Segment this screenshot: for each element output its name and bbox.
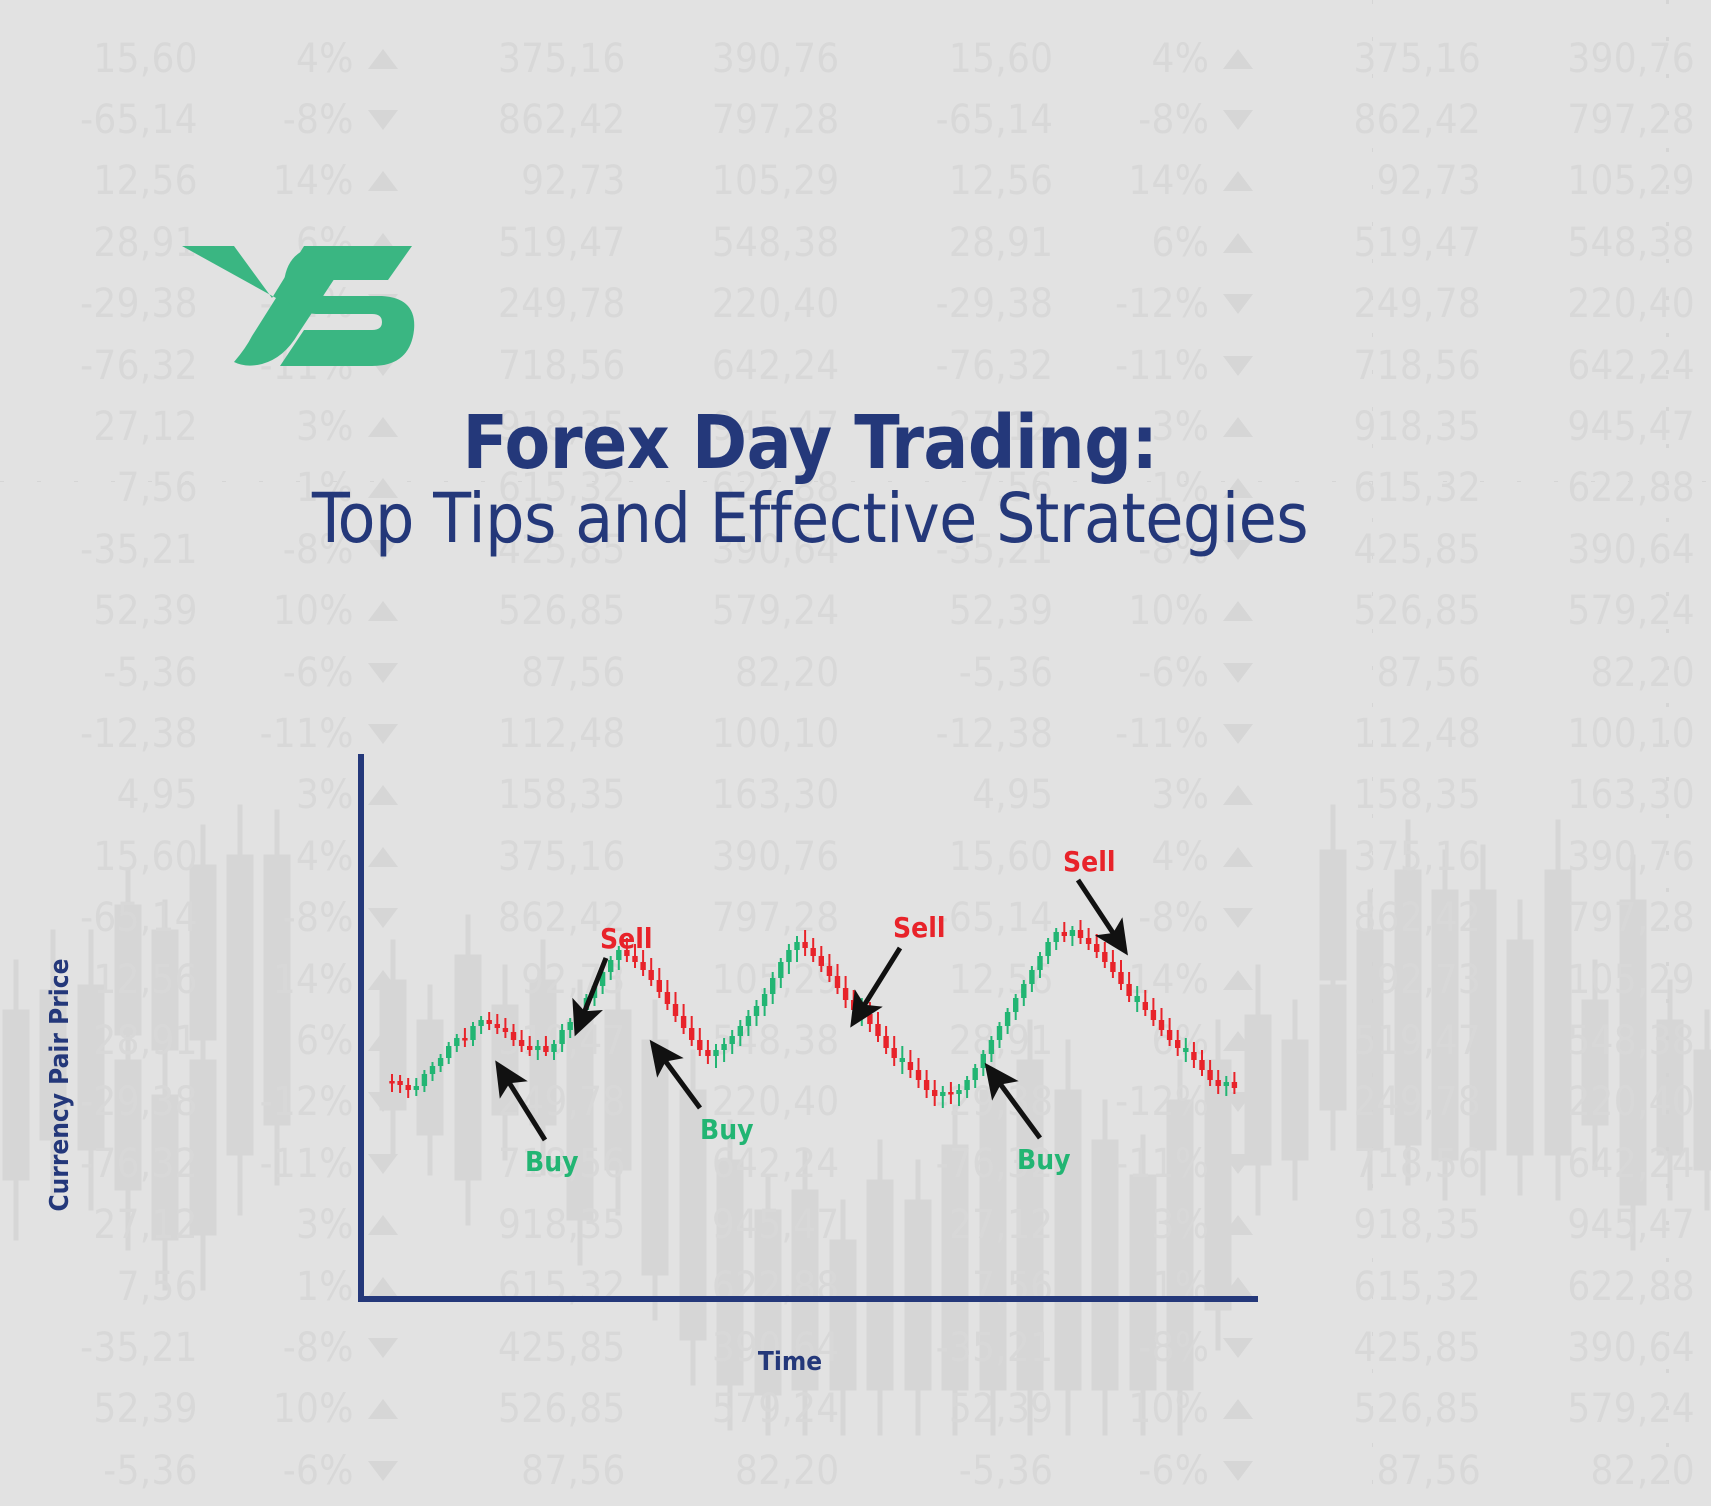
sell-signal-label: Sell (600, 922, 653, 955)
ticker-percent: 10% (1069, 581, 1283, 642)
candle-body-up (981, 1054, 986, 1068)
candle-body-down (632, 956, 637, 962)
candle-body-up (1135, 996, 1140, 1002)
candle-body-down (519, 1040, 524, 1046)
candle-body-up (1070, 930, 1075, 936)
candle-body-down (867, 1014, 872, 1024)
ticker-value: 7,56 (0, 458, 214, 519)
candle-body-down (883, 1036, 888, 1048)
ticker-num-1: 519,47 (428, 212, 642, 273)
candle-body-down (1232, 1082, 1237, 1088)
ticker-num-2: 642,24 (642, 335, 856, 396)
candle-body-up (478, 1020, 483, 1026)
ticker-num-2: 548,38 (1497, 212, 1711, 273)
ticker-value: 15,60 (0, 28, 214, 89)
arrow-down-icon (1223, 294, 1253, 314)
ticker-percent: -8% (1069, 89, 1283, 150)
ticker-num-2: 390,64 (1497, 519, 1711, 580)
candle-body-down (1151, 1010, 1156, 1020)
arrow-down-icon (1223, 663, 1253, 683)
candle-body-down (892, 1048, 897, 1058)
candle-body-down (487, 1020, 492, 1024)
ticker-percent: 14% (1069, 151, 1283, 212)
ticker-num-1: 92,73 (1283, 151, 1497, 212)
arrow-up-icon (1223, 171, 1253, 191)
candle-body-down (1159, 1020, 1164, 1030)
ticker-percent: -6% (1069, 642, 1283, 703)
candle-body-down (689, 1028, 694, 1040)
candle-body-down (397, 1081, 402, 1085)
sell-signal-label: Sell (1063, 845, 1116, 878)
chart-axes (358, 754, 1258, 1302)
candle-body-up (1224, 1082, 1229, 1086)
candle-body-up (1054, 932, 1059, 942)
ticker-value: -5,36 (856, 642, 1070, 703)
candle-body-down (665, 992, 670, 1004)
candle-body-down (1207, 1070, 1212, 1080)
arrow-up-icon (368, 601, 398, 621)
candle-body-down (681, 1016, 686, 1028)
ticker-num-2: 105,29 (642, 151, 856, 212)
candle-body-up (1013, 998, 1018, 1012)
candle-body-down (851, 1000, 856, 1010)
ticker-value: 27,12 (0, 396, 214, 457)
buy-signal-label: Buy (1017, 1143, 1071, 1176)
ticker-num-1: 526,85 (428, 581, 642, 642)
candle-body-up (762, 994, 767, 1006)
ticker-num-1: 526,85 (1283, 581, 1497, 642)
title-line-1: Forex Day Trading: (240, 404, 1380, 482)
ticker-num-1: 92,73 (428, 151, 642, 212)
candle-body-down (835, 976, 840, 988)
candle-body-up (551, 1044, 556, 1052)
arrow-up-icon (368, 49, 398, 69)
candle-body-up (900, 1058, 905, 1062)
candle-body-up (608, 960, 613, 972)
candle-body-up (1045, 942, 1050, 956)
arrow-down-icon (1223, 110, 1253, 130)
ticker-num-1: 249,78 (428, 274, 642, 335)
ticker-num-1: 87,56 (1283, 642, 1497, 703)
candle-body-up (1029, 970, 1034, 984)
ticker-num-1: 718,56 (428, 335, 642, 396)
ticker-num-1: 718,56 (1283, 335, 1497, 396)
x-axis-label: Time (560, 1347, 1020, 1377)
candle-body-up (430, 1066, 435, 1074)
ticker-value: 15,60 (856, 28, 1070, 89)
candle-body-up (438, 1058, 443, 1066)
ticker-num-2: 82,20 (642, 642, 856, 703)
candle-wick (464, 1028, 466, 1047)
candle-body-up (1005, 1012, 1010, 1026)
ticker-num-1: 375,16 (1283, 28, 1497, 89)
ticker-value: -65,14 (856, 89, 1070, 150)
candle-body-up (746, 1016, 751, 1026)
ticker-num-2: 220,40 (1497, 274, 1711, 335)
ticker-value: -76,32 (856, 335, 1070, 396)
candle-body-down (1078, 930, 1083, 938)
candle-body-down (1175, 1040, 1180, 1048)
candle-wick (942, 1086, 944, 1108)
arrow-up-icon (368, 171, 398, 191)
candle-body-down (843, 988, 848, 1000)
candle-body-down (640, 962, 645, 970)
candle-body-down (1216, 1080, 1221, 1086)
candle-body-up (778, 962, 783, 978)
ticker-value: 52,39 (0, 581, 214, 642)
poster-canvas: 15,604%375,16390,7615,604%375,16390,76-6… (0, 0, 1711, 1506)
ticker-num-2: 642,24 (1497, 335, 1711, 396)
ticker-num-2: 390,76 (642, 28, 856, 89)
candle-body-down (1102, 952, 1107, 962)
y-axis-label: Currency Pair Price (45, 955, 75, 1215)
title-line-2: Top Tips and Effective Strategies (240, 482, 1380, 558)
candle-body-up (956, 1090, 961, 1094)
candle-body-up (770, 978, 775, 994)
ticker-percent: -8% (214, 89, 428, 150)
candle-body-up (568, 1022, 573, 1030)
arrow-up-icon (1223, 233, 1253, 253)
candle-body-up (754, 1006, 759, 1016)
candle-body-up (730, 1036, 735, 1044)
candle-body-down (657, 980, 662, 992)
candle-body-down (948, 1092, 953, 1095)
ticker-num-2: 622,88 (1497, 458, 1711, 519)
ticker-percent: 4% (214, 28, 428, 89)
ticker-num-1: 519,47 (1283, 212, 1497, 273)
candle-body-up (973, 1068, 978, 1080)
candle-body-up (535, 1046, 540, 1050)
candle-body-up (738, 1026, 743, 1036)
candle-body-down (924, 1080, 929, 1090)
ticker-percent: 14% (214, 151, 428, 212)
candle-body-down (389, 1081, 394, 1084)
candle-body-up (422, 1074, 427, 1086)
candle-body-down (811, 948, 816, 956)
ticker-num-2: 797,28 (1497, 89, 1711, 150)
ticker-value: 12,56 (0, 151, 214, 212)
ticker-num-2: 82,20 (1497, 642, 1711, 703)
annotation-arrow (990, 1070, 1040, 1138)
candle-body-up (713, 1050, 718, 1056)
buy-signal-label: Buy (525, 1145, 579, 1178)
ticker-num-2: 548,38 (642, 212, 856, 273)
ticker-value: -29,38 (856, 274, 1070, 335)
ticker-value: -65,14 (0, 89, 214, 150)
candle-body-up (794, 942, 799, 950)
candle-body-down (1191, 1052, 1196, 1060)
candle-body-down (875, 1024, 880, 1036)
ticker-num-2: 797,28 (642, 89, 856, 150)
ticker-num-2: 579,24 (642, 581, 856, 642)
candle-body-down (908, 1062, 913, 1070)
candle-body-down (1062, 932, 1067, 936)
annotation-arrow (1078, 880, 1123, 948)
ticker-percent: -12% (1069, 274, 1283, 335)
candle-body-down (705, 1050, 710, 1056)
ticker-num-2: 390,76 (1497, 28, 1711, 89)
ticker-num-1: 87,56 (428, 642, 642, 703)
candle-body-down (511, 1032, 516, 1040)
ticker-percent: 10% (214, 581, 428, 642)
candle-body-down (1143, 1002, 1148, 1010)
candle-body-down (1118, 972, 1123, 984)
ticker-percent: -11% (1069, 335, 1283, 396)
ticker-value: -35,21 (0, 519, 214, 580)
arrow-down-icon (368, 110, 398, 130)
candle-wick (958, 1084, 960, 1106)
ticker-value: 12,56 (856, 151, 1070, 212)
candle-body-up (964, 1080, 969, 1090)
candle-body-up (997, 1026, 1002, 1040)
ticker-num-1: 862,42 (1283, 89, 1497, 150)
ticker-num-2: 579,24 (1497, 581, 1711, 642)
ticker-percent: -6% (214, 642, 428, 703)
sell-signal-label: Sell (893, 911, 946, 944)
arrow-down-icon (368, 663, 398, 683)
candle-body-down (673, 1004, 678, 1016)
candle-body-down (649, 970, 654, 980)
candle-body-down (1110, 962, 1115, 972)
candle-body-down (932, 1090, 937, 1096)
annotation-arrow (500, 1068, 545, 1140)
annotation-arrow (855, 948, 900, 1020)
candle-body-down (527, 1046, 532, 1050)
candle-body-down (916, 1070, 921, 1080)
candle-body-down (1126, 984, 1131, 996)
candlestick-chart: Currency Pair Price Time SellBuyBuySellS… (0, 740, 1711, 1506)
candle-body-up (1037, 956, 1042, 970)
arrow-down-icon (1223, 356, 1253, 376)
ticker-num-1: 375,16 (428, 28, 642, 89)
candle-body-down (406, 1085, 411, 1090)
candle-body-up (721, 1044, 726, 1050)
candle-body-down (802, 942, 807, 948)
candle-body-down (543, 1046, 548, 1052)
candle-body-down (1094, 944, 1099, 952)
page-title: Forex Day Trading: Top Tips and Effectiv… (240, 404, 1380, 558)
candle-body-up (446, 1046, 451, 1058)
candle-body-up (1183, 1048, 1188, 1052)
ticker-value: 52,39 (856, 581, 1070, 642)
candle-body-down (495, 1024, 500, 1028)
candle-body-up (1021, 984, 1026, 998)
candle-body-down (827, 966, 832, 976)
candle-body-down (1199, 1060, 1204, 1070)
candle-body-up (989, 1040, 994, 1054)
candle-body-down (503, 1028, 508, 1032)
candle-body-down (697, 1040, 702, 1050)
candle-body-up (559, 1030, 564, 1044)
ticker-num-2: 220,40 (642, 274, 856, 335)
ticker-num-1: 249,78 (1283, 274, 1497, 335)
ticker-percent: 6% (1069, 212, 1283, 273)
candle-body-up (470, 1026, 475, 1040)
annotation-arrow (655, 1047, 700, 1108)
ticker-percent: 4% (1069, 28, 1283, 89)
buy-signal-label: Buy (700, 1113, 754, 1146)
candle-body-down (1086, 938, 1091, 944)
candle-body-down (1167, 1030, 1172, 1040)
candle-body-up (414, 1086, 419, 1090)
ticker-num-1: 862,42 (428, 89, 642, 150)
ticker-value: -5,36 (0, 642, 214, 703)
ticker-value: 28,91 (856, 212, 1070, 273)
arrow-up-icon (1223, 49, 1253, 69)
candle-body-up (940, 1092, 945, 1096)
ticker-num-2: 105,29 (1497, 151, 1711, 212)
candle-body-up (786, 950, 791, 962)
candle-body-down (819, 956, 824, 966)
candle-body-up (454, 1038, 459, 1046)
xs-logo (176, 236, 418, 376)
candle-body-down (462, 1038, 467, 1041)
arrow-up-icon (1223, 601, 1253, 621)
ticker-num-2: 945,47 (1497, 396, 1711, 457)
